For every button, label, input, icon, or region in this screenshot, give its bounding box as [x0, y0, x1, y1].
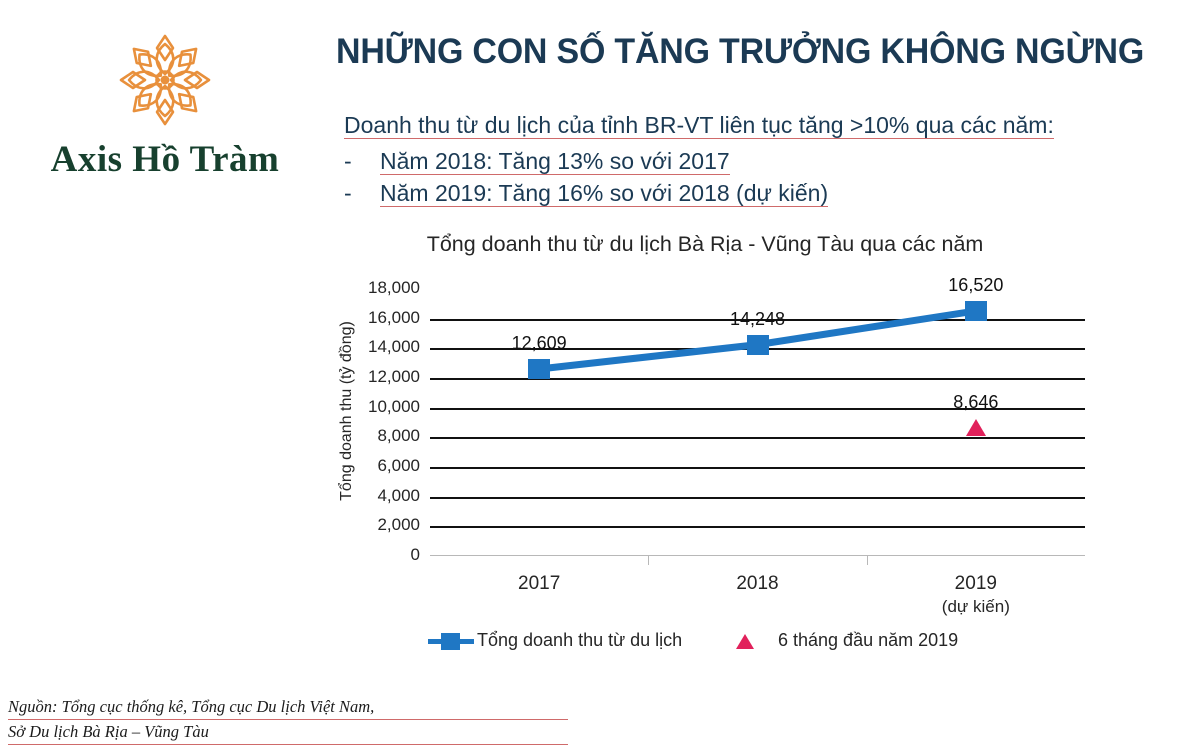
y-tick-label: 12,000: [336, 367, 420, 387]
y-tick-label: 6,000: [336, 456, 420, 476]
brand-logo-block: Axis Hồ Tràm: [0, 8, 330, 203]
plot-area: 12,60914,24816,5208,646: [430, 289, 1085, 556]
data-label: 14,248: [730, 309, 785, 330]
y-tick-label: 16,000: [336, 308, 420, 328]
legend-label: Tổng doanh thu từ du lịch: [477, 630, 682, 650]
triangle-marker-icon: [966, 419, 986, 436]
data-label: 8,646: [953, 392, 998, 413]
bullet-text: Năm 2019: Tăng 16% so với 2018 (dự kiến): [380, 180, 828, 207]
y-tick-label: 14,000: [336, 337, 420, 357]
legend-label: 6 tháng đầu năm 2019: [778, 630, 958, 650]
bullet-text: Năm 2018: Tăng 13% so với 2017: [380, 148, 730, 175]
square-marker-icon: [747, 335, 769, 355]
lotus-mandala-icon: [115, 30, 215, 130]
x-axis-tick: [867, 556, 868, 565]
y-tick-label: 0: [336, 545, 420, 565]
y-tick-label: 2,000: [336, 515, 420, 535]
legend-line-marker-icon: [428, 639, 474, 644]
y-tick-label: 10,000: [336, 397, 420, 417]
intro-text: Doanh thu từ du lịch của tỉnh BR-VT liên…: [344, 112, 1054, 139]
y-tick-label: 18,000: [336, 278, 420, 298]
legend-item-revenue[interactable]: Tổng doanh thu từ du lịch: [428, 630, 682, 651]
brand-wordmark: Axis Hồ Tràm: [0, 138, 330, 181]
legend-item-half-year[interactable]: 6 tháng đầu năm 2019: [736, 630, 958, 651]
chart-title: Tổng doanh thu từ du lịch Bà Rịa - Vũng …: [300, 232, 1110, 257]
bullet-item-1: -Năm 2018: Tăng 13% so với 2017: [344, 148, 730, 175]
x-category-sublabel: (dự kiến): [942, 596, 1010, 617]
legend-triangle-marker-icon: [736, 634, 754, 649]
source-note: Nguồn: Tổng cục thống kê, Tổng cục Du lị…: [8, 695, 568, 745]
x-category-label: 2017: [518, 572, 560, 596]
bullet-dash: -: [344, 180, 380, 207]
x-category-label: 2019(dự kiến): [942, 572, 1010, 617]
page-title: NHỮNG CON SỐ TĂNG TRƯỞNG KHÔNG NGỪNG: [336, 32, 1141, 72]
square-marker-icon: [528, 359, 550, 379]
y-tick-label: 8,000: [336, 426, 420, 446]
data-label: 12,609: [512, 333, 567, 354]
x-category-label: 2018: [736, 572, 778, 596]
source-line-1: Nguồn: Tổng cục thống kê, Tổng cục Du lị…: [8, 695, 568, 720]
y-tick-label: 4,000: [336, 486, 420, 506]
bullet-item-2: -Năm 2019: Tăng 16% so với 2018 (dự kiến…: [344, 180, 828, 207]
x-axis-tick: [648, 556, 649, 565]
revenue-line-chart: Tổng doanh thu từ du lịch Bà Rịa - Vũng …: [300, 232, 1110, 662]
intro-line: Doanh thu từ du lịch của tỉnh BR-VT liên…: [344, 112, 1054, 139]
bullet-dash: -: [344, 148, 380, 175]
chart-legend: Tổng doanh thu từ du lịch 6 tháng đầu nă…: [300, 630, 1110, 660]
square-marker-icon: [965, 301, 987, 321]
source-line-2: Sở Du lịch Bà Rịa – Vũng Tàu: [8, 720, 568, 745]
data-label: 16,520: [948, 275, 1003, 296]
